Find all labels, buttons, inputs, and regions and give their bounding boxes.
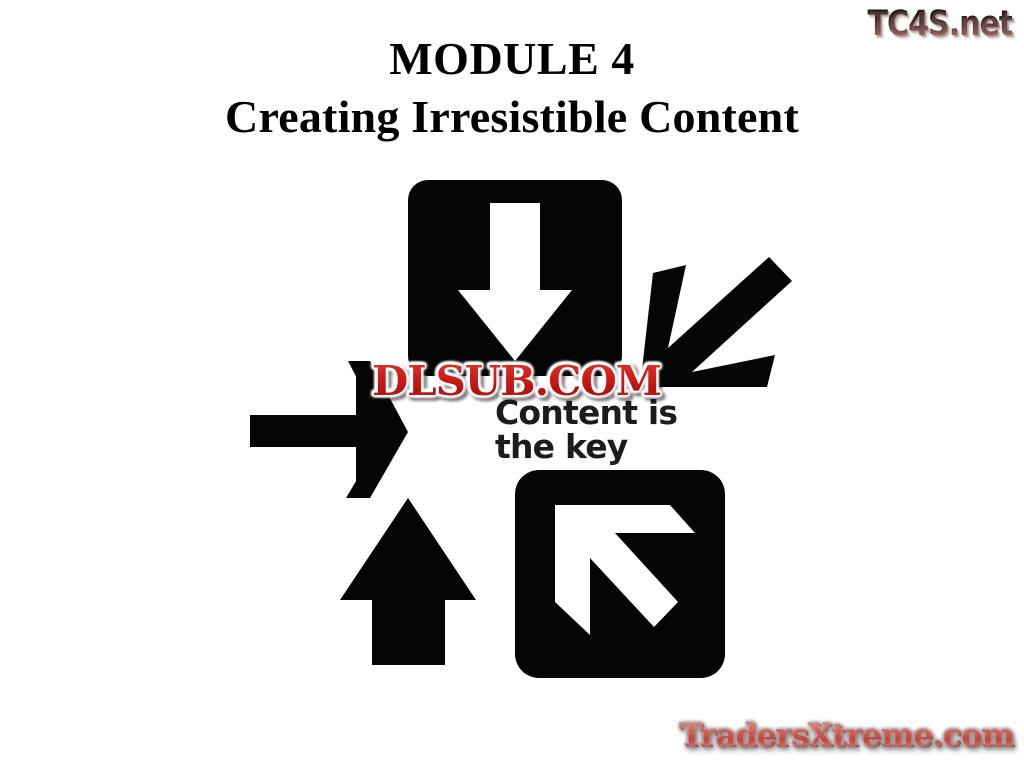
bottom-right-diagonal-arrow-tile xyxy=(515,470,725,678)
top-down-arrow-tile xyxy=(408,180,622,376)
watermark-bottom-right: TradersXtreme.com xyxy=(680,718,1014,754)
top-right-diagonal-arrow xyxy=(640,257,792,387)
diagonal-down-left-arrow-icon xyxy=(640,257,792,387)
title-line-subtitle: Creating Irresistible Content xyxy=(0,92,1024,142)
up-arrow-icon xyxy=(340,498,476,665)
watermark-top-right: TC4S.net xyxy=(867,4,1012,44)
page-title: MODULE 4 Creating Irresistible Content xyxy=(0,34,1024,141)
slide-canvas: MODULE 4 Creating Irresistible Content T… xyxy=(0,0,1024,768)
watermark-center: DLSUB.COM xyxy=(372,357,661,405)
graphic-caption: Content is the key xyxy=(495,396,677,464)
bottom-left-up-arrow xyxy=(340,498,476,665)
